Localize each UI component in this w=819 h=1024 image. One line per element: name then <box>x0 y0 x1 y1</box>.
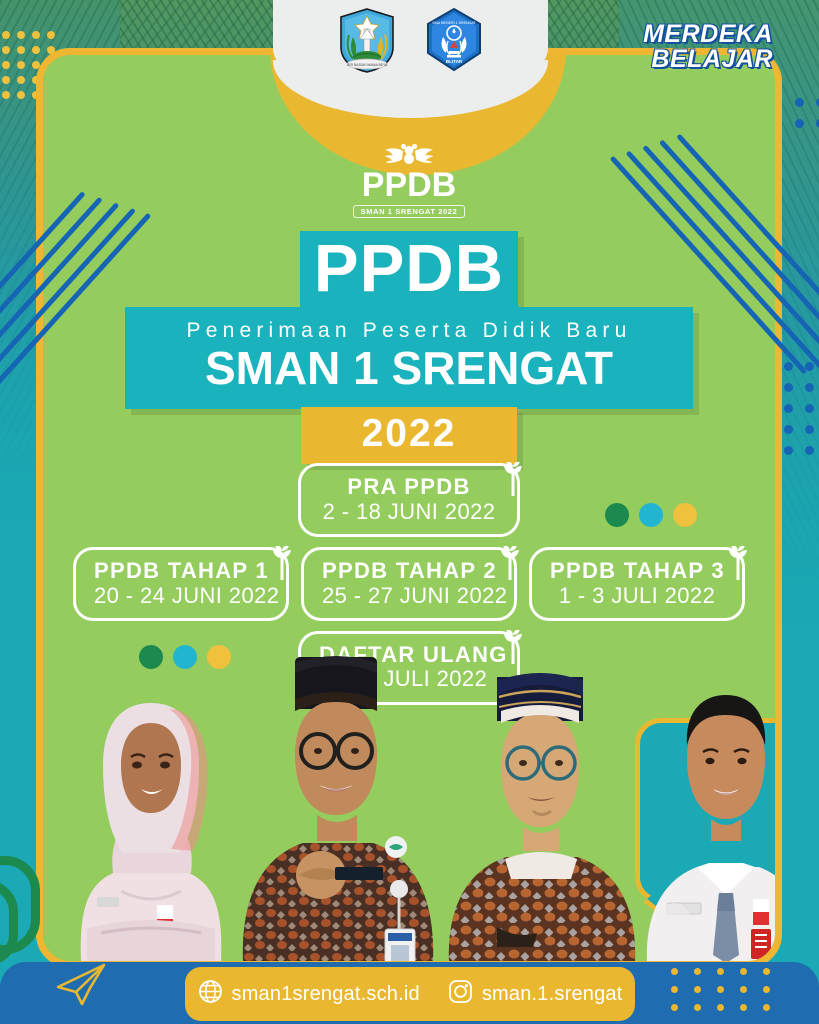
website-contact[interactable]: sman1srengat.sch.id <box>198 979 420 1009</box>
title-band: Penerimaan Peserta Didik Baru SMAN 1 SRE… <box>125 307 693 409</box>
sprout-icon <box>500 462 526 496</box>
card-content: PPDB SMAN 1 SRENGAT 2022 PPDB Penerimaan… <box>43 55 775 961</box>
title-subtitle: Penerimaan Peserta Didik Baru <box>125 319 693 342</box>
person-elderly-official <box>435 659 650 961</box>
tagline-line-1: MERDEKA <box>643 22 773 47</box>
schedule-pill-pra-ppdb[interactable]: PRA PPDB 2 - 18 JUNI 2022 <box>298 463 520 537</box>
tagline-line-2: BELAJAR <box>643 47 773 72</box>
yellow-dot-grid-bottom-right <box>671 968 791 1016</box>
person-male-teacher-principal <box>221 643 451 961</box>
contact-info-pill: sman1srengat.sch.id sman.1.srengat <box>185 967 635 1021</box>
schedule-label: PPDB TAHAP 1 <box>94 559 268 584</box>
title-year: 2022 <box>301 407 517 465</box>
schedule-dates: 20 - 24 JUNI 2022 <box>94 583 268 608</box>
ppdb-logo-word: PPDB <box>43 170 775 201</box>
east-java-province-crest: JER BASUKI MAWA BEYA <box>337 7 397 78</box>
sman-1-srengat-school-crest: SMA NEGERI 1 SRENGAT BLITAR <box>423 7 485 78</box>
schedule-row-1: PRA PPDB 2 - 18 JUNI 2022 <box>43 463 775 547</box>
sprout-icon <box>497 546 523 580</box>
sprout-icon <box>269 546 295 580</box>
title-block: PPDB Penerimaan Peserta Didik Baru SMAN … <box>43 231 775 464</box>
website-url: sman1srengat.sch.id <box>232 983 420 1006</box>
instagram-handle: sman.1.srengat <box>482 983 623 1006</box>
svg-text:JER BASUKI MAWA BEYA: JER BASUKI MAWA BEYA <box>346 63 387 67</box>
paper-plane-icon <box>52 961 108 1012</box>
main-green-card: PPDB SMAN 1 SRENGAT 2022 PPDB Penerimaan… <box>36 48 782 968</box>
merdeka-belajar-tagline: MERDEKA BELAJAR <box>643 22 773 72</box>
svg-text:SMA NEGERI 1 SRENGAT: SMA NEGERI 1 SRENGAT <box>432 21 476 25</box>
people-photo-group <box>43 631 775 961</box>
schedule-label: PPDB TAHAP 3 <box>550 559 724 584</box>
crest-row: JER BASUKI MAWA BEYA SMA NEGERI 1 SRENGA… <box>273 6 548 78</box>
schedule-row-2: PPDB TAHAP 1 20 - 24 JUNI 2022 <box>43 547 775 631</box>
schedule-dates: 25 - 27 JUNI 2022 <box>322 583 496 608</box>
instagram-contact[interactable]: sman.1.srengat <box>448 979 623 1009</box>
schedule-pill-tahap-2[interactable]: PPDB TAHAP 2 25 - 27 JUNI 2022 <box>301 547 517 621</box>
schedule-label: PPDB TAHAP 2 <box>322 559 496 584</box>
title-school-name: SMAN 1 SRENGAT <box>125 343 693 395</box>
svg-text:BLITAR: BLITAR <box>445 59 462 64</box>
schedule-dates: 1 - 3 JULI 2022 <box>550 583 724 608</box>
schedule-pill-tahap-3[interactable]: PPDB TAHAP 3 1 - 3 JULI 2022 <box>529 547 745 621</box>
person-female-student <box>61 661 241 961</box>
sprout-icon <box>725 546 751 580</box>
globe-icon <box>198 979 223 1009</box>
schedule-pill-tahap-1[interactable]: PPDB TAHAP 1 20 - 24 JUNI 2022 <box>73 547 289 621</box>
ppdb-logo-subtitle: SMAN 1 SRENGAT 2022 <box>353 205 466 218</box>
title-ppdb: PPDB <box>300 231 518 307</box>
instagram-icon <box>448 979 473 1009</box>
schedule-dates: 2 - 18 JUNI 2022 <box>319 499 499 524</box>
ppdb-logo: PPDB SMAN 1 SRENGAT 2022 <box>43 143 775 219</box>
schedule-label: PRA PPDB <box>319 475 499 500</box>
ppdb-poster: PPDB SMAN 1 SRENGAT 2022 PPDB Penerimaan… <box>0 0 819 1024</box>
person-male-student <box>631 671 775 961</box>
